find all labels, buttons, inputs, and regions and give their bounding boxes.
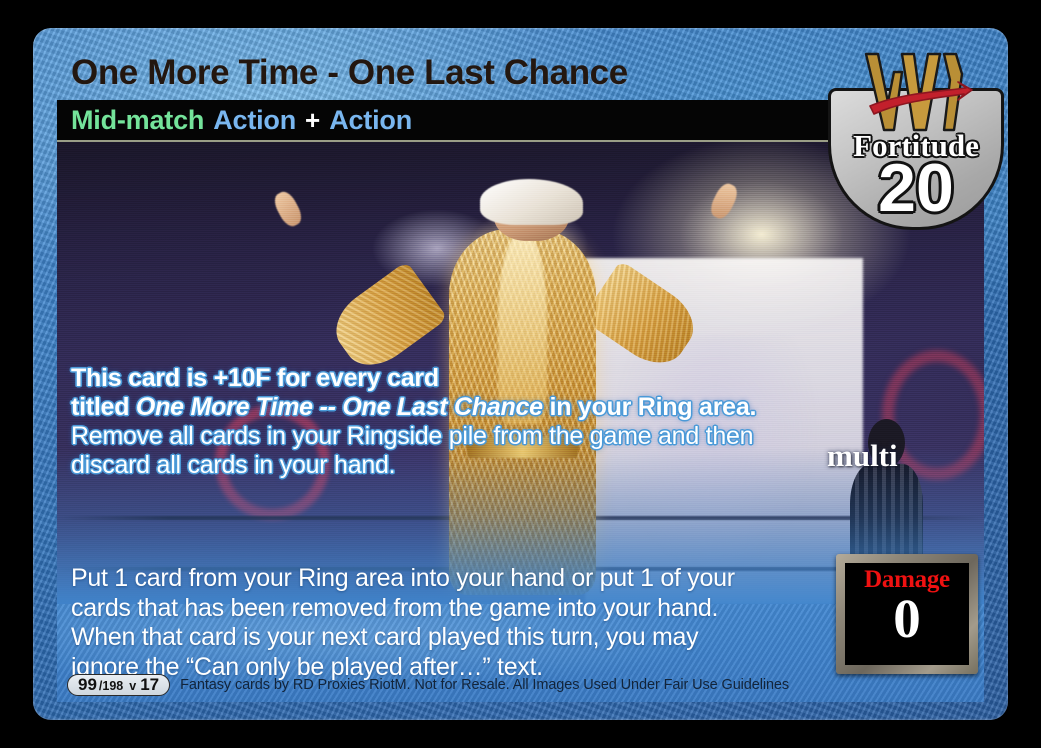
subtype-timing: Mid-match <box>71 105 204 136</box>
ability-overlay-line: discard all cards in your hand. <box>71 451 801 480</box>
damage-box: Damage 0 <box>836 554 978 674</box>
subtype-type-1: Action <box>213 105 296 136</box>
ability-lower-line: cards that has been removed from the gam… <box>71 594 801 624</box>
card-total: /198 <box>99 680 123 693</box>
version-number: 17 <box>140 676 159 693</box>
damage-inner: Damage 0 <box>845 563 969 665</box>
footer-credit: Fantasy cards by RD Proxies RiotM. Not f… <box>180 677 789 693</box>
card-title: One More Time - One Last Chance <box>71 46 628 100</box>
ability-lower-line: When that card is your next card played … <box>71 623 801 653</box>
card-subtype-bar: Mid-match Action + Action <box>57 100 852 142</box>
wwe-logo <box>858 50 976 136</box>
raw-deal-card: One More Time - One Last Chance Mid-matc… <box>0 0 1041 748</box>
ability-overlay-line: Remove all cards in your Ringside pile f… <box>71 422 801 451</box>
ability-lower-line: Put 1 card from your Ring area into your… <box>71 564 801 594</box>
ability-text-run: This card is +10F for every card <box>71 364 439 392</box>
fortitude-shield: Fortitude 20 <box>820 50 1012 232</box>
fortitude-value: 20 <box>820 154 1012 222</box>
ability-overlay-line: This card is +10F for every card <box>71 364 801 393</box>
multi-label: multi <box>827 438 898 474</box>
ability-text-run: Remove all cards in your Ringside pile f… <box>71 422 753 450</box>
subtype-type-2: Action <box>329 105 412 136</box>
referenced-card-title: One More Time -- One Last Chance <box>136 393 543 421</box>
ability-overlay-line: titled One More Time -- One Last Chance … <box>71 393 801 422</box>
damage-value: 0 <box>893 591 921 646</box>
ability-text-run: discard all cards in your hand. <box>71 451 395 479</box>
version-label: v <box>129 680 136 693</box>
card-number-badge: 99/198v17 <box>67 674 170 696</box>
ability-text-overlay: This card is +10F for every cardtitled O… <box>71 364 801 480</box>
subtype-separator: + <box>305 105 320 136</box>
ability-text-run: titled <box>71 393 136 421</box>
card-number: 99 <box>78 676 97 693</box>
ability-text-lower: Put 1 card from your Ring area into your… <box>71 564 801 682</box>
ability-text-run: in your Ring area. <box>543 393 756 421</box>
